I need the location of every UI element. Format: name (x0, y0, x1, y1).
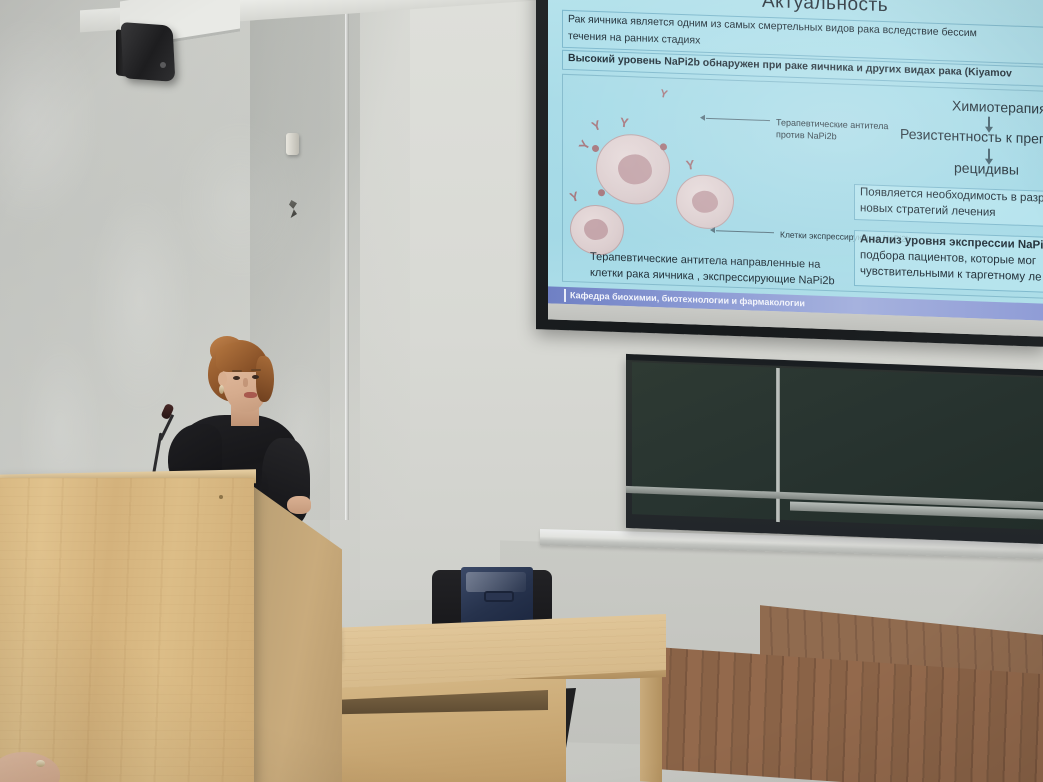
bag-handle (484, 591, 514, 602)
lecture-hall-photo: Актуальность Рак яичника является одним … (0, 0, 1043, 782)
projection-screen: Актуальность Рак яичника является одним … (548, 0, 1043, 337)
leader-arrow-icon (710, 227, 715, 233)
flow-step-chemotherapy: Химиотерапия (952, 97, 1043, 116)
table-leg (640, 667, 662, 782)
wall-seam (345, 0, 349, 520)
presenter-eye-left (233, 376, 240, 380)
presenter-mouth (244, 392, 257, 398)
presenter-eyebrow-left (232, 370, 242, 372)
presenter-eyebrow-right (251, 369, 261, 371)
bag-highlight (466, 572, 526, 592)
cell-nucleus (692, 190, 718, 213)
podium-screw (219, 495, 223, 499)
presenter-eye-right (252, 375, 259, 379)
antibody-icon: Y (619, 115, 629, 129)
slide-footer-accent (564, 289, 566, 302)
slide-title: Актуальность (762, 0, 888, 17)
antibody-icon: Y (685, 158, 695, 172)
cell-nucleus (584, 219, 608, 241)
presentation-slide: Актуальность Рак яичника является одним … (548, 0, 1043, 319)
presenter-hand (287, 496, 311, 514)
wall-fixture-icon (286, 133, 299, 155)
chalkboard-divider (776, 368, 780, 522)
presenter-ear (218, 372, 227, 386)
receptor-icon (660, 143, 667, 150)
receptor-icon (592, 145, 599, 152)
presenter-hair-side (256, 356, 274, 402)
presenter-nose (243, 378, 248, 387)
ring-icon (36, 760, 45, 767)
leader-arrow-icon (700, 115, 705, 121)
flow-step-relapse: рецидивы (954, 160, 1019, 178)
speaker-driver (160, 62, 166, 68)
receptor-icon (598, 189, 605, 196)
presenter-earring (219, 385, 224, 394)
cell-nucleus (618, 154, 652, 185)
label-antibodies-line2: против NaPi2b (776, 129, 837, 141)
wall-speaker-icon (121, 22, 176, 82)
podium-wood-grain (0, 478, 254, 782)
